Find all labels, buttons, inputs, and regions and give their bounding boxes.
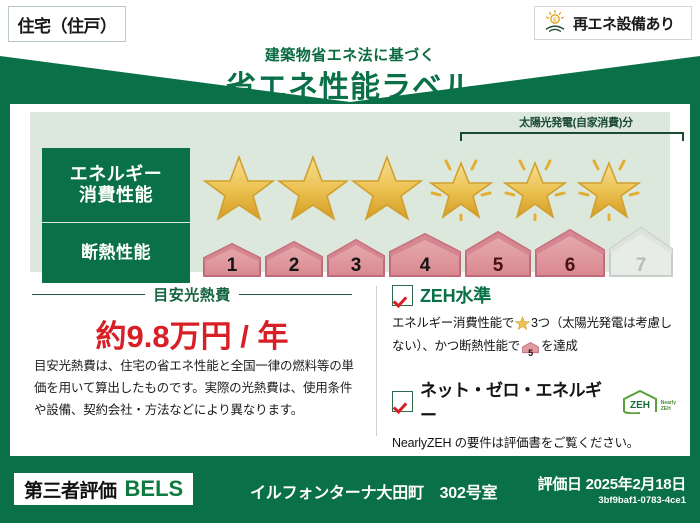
insulation-level-4: 4 [388,228,462,283]
insulation-level-4-number: 4 [388,255,462,277]
insulation-level-2-number: 2 [264,255,324,277]
insulation-performance-row: 断熱性能 1 [42,222,676,283]
energy-performance-row: エネルギー 消費性能 [42,148,646,222]
utility-cost-heading-row: 目安光熱費 [32,284,352,305]
insulation-level-6: 6 [534,224,606,283]
insulation-level-7-number: 7 [608,255,674,277]
insulation-level-3: 3 [326,234,386,283]
svg-text:ZEH: ZEH [630,400,650,411]
zeh-standard-heading: ZEH水準 [392,282,676,308]
insulation-level-5-number: 5 [464,255,532,277]
star-solar-icon [498,149,572,221]
insulation-level-3-number: 3 [326,255,386,277]
performance-panel: エネルギー 消費性能 [30,112,670,272]
insulation-level-5: 5 [464,226,532,283]
insulation-performance-label: 断熱性能 [81,243,151,263]
utility-cost-heading: 目安光熱費 [153,284,231,305]
utility-cost-amount: 約9.8万円 / 年 [32,311,352,356]
solar-annotation: 太陽光発電(自家消費)分 [454,114,698,141]
bels-en-label: BELS [125,476,184,502]
insulation-level-7: 7 [608,222,674,283]
star-icon-inline [515,315,530,336]
footer: 第三者評価 BELS イルフォンターナ大田町 302号室 評価日 2025年2月… [0,465,700,523]
page-title: 省エネ性能ラベル [0,62,700,106]
bels-jp-label: 第三者評価 [24,476,117,503]
zeh-logo-sub-line2: ZEH [661,406,671,412]
evaluation-info: 評価日 2025年2月18日 3bf9baf1-0783-4ce1 [538,473,686,506]
zeh-logo-sublabel: Nearly ZEH [661,401,676,414]
energy-performance-label-line1: エネルギー [70,164,163,185]
zeh-body-star-count: 3つ [531,316,550,330]
zeh-body-part3: を達成 [541,339,578,353]
renewable-energy-label: 再エネ設備あり [573,13,675,34]
utility-cost-note: 目安光熱費は、住宅の省エネ性能と全国一律の燃料等の単価を用いて算出したものです。… [34,356,364,422]
net-zero-body: NearlyZEH の要件は評価書をご覧ください。 [392,432,676,451]
energy-performance-label-line2: 消費性能 [79,185,153,206]
heading-rule-right [239,294,352,295]
zeh-column: ZEH水準 エネルギー消費性能で3つ（太陽光発電は考慮しない）、かつ断熱性能で5… [392,282,676,451]
star-icon [276,149,350,221]
net-zero-heading: ネット・ゼロ・エネルギー ZEH Nearly ZEH [392,376,676,426]
zeh-body-house-level: 5 [522,346,539,360]
housing-type-badge: 住宅（住戸） [8,6,126,42]
energy-performance-label-box: エネルギー 消費性能 [42,148,190,222]
insulation-level-icon-inline: 5 [522,340,539,360]
zeh-logo-icon: ZEH Nearly ZEH [620,388,676,414]
insulation-level-scale: 1 2 3 [202,222,676,283]
solar-annotation-bracket [460,132,684,141]
insulation-level-2: 2 [264,236,324,283]
heading-rule-left [32,294,145,295]
star-icon [202,149,276,221]
insulation-level-6-number: 6 [534,255,606,277]
zeh-standard-body: エネルギー消費性能で3つ（太陽光発電は考慮しない）、かつ断熱性能で5を達成 [392,313,676,360]
solar-annotation-label: 太陽光発電(自家消費)分 [454,114,698,130]
insulation-performance-label-box: 断熱性能 [42,223,190,283]
zeh-standard-title: ZEH水準 [420,282,491,308]
insulation-level-1-number: 1 [202,255,262,277]
evaluation-id: 3bf9baf1-0783-4ce1 [538,495,686,506]
column-divider [376,286,377,436]
renewable-energy-badge: E 再エネ設備あり [534,6,692,40]
check-icon [392,285,413,306]
star-icon [350,149,424,221]
utility-cost-block: 目安光熱費 約9.8万円 / 年 [32,284,352,356]
solar-sun-icon: E [543,9,567,38]
insulation-level-1: 1 [202,238,262,283]
svg-text:E: E [553,17,557,23]
star-solar-icon [572,149,646,221]
bels-certification-box: 第三者評価 BELS [14,473,193,505]
zeh-body-part1: エネルギー消費性能で [392,316,514,330]
main-card: エネルギー 消費性能 [10,104,690,456]
net-zero-title: ネット・ゼロ・エネルギー [420,376,613,426]
housing-type-label: 住宅（住戸） [18,12,117,37]
energy-performance-label: 住宅（住戸） E 再エネ設備あり 建築物省エネ法に基づく 省エネ性能ラベル [0,0,700,523]
evaluation-date: 評価日 2025年2月18日 [538,473,686,494]
energy-star-rating [202,149,646,221]
building-name: イルフォンターナ大田町 302号室 [250,479,497,503]
star-solar-icon [424,149,498,221]
check-icon [392,391,413,412]
